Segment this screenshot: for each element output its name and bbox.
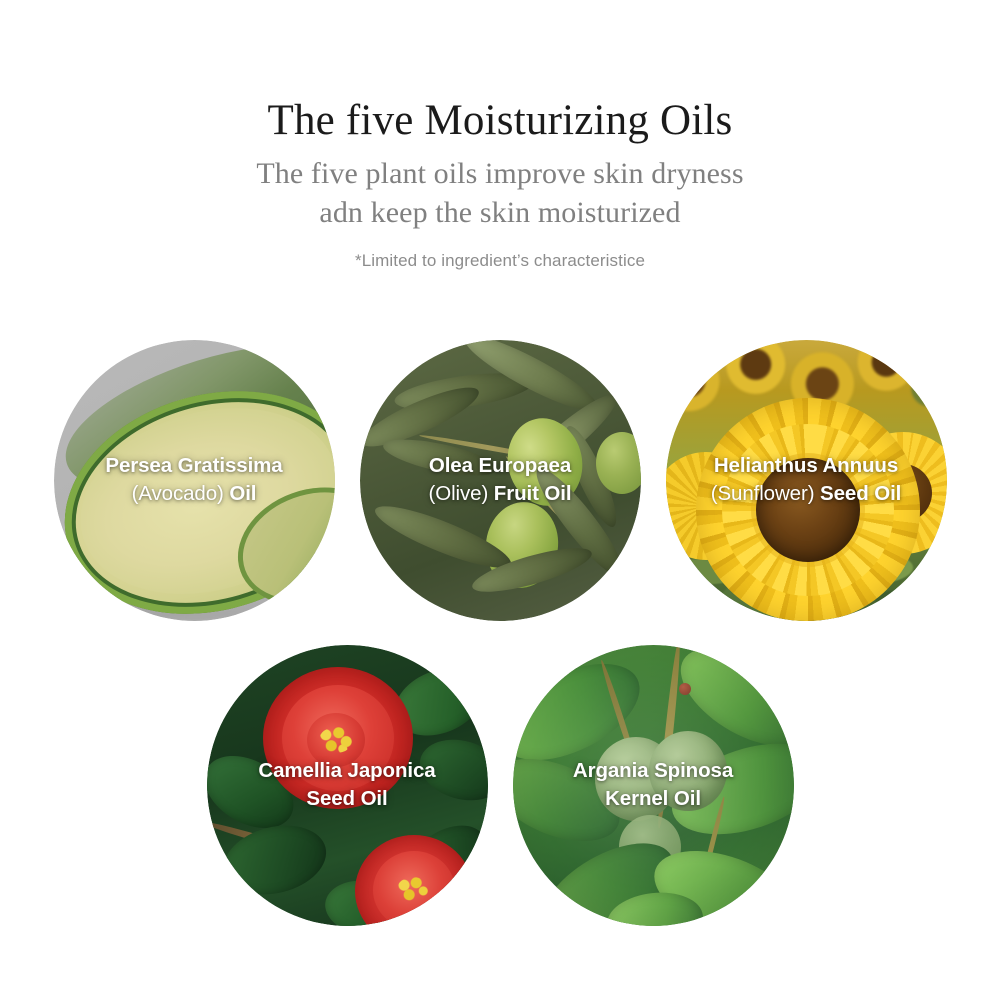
avocado-half-photo [54,340,335,621]
header: The five Moisturizing Oils The five plan… [0,0,1000,271]
olive-branch-photo [360,340,641,621]
oil-row-bottom: Camellia Japonica Seed Oil [0,645,1000,926]
oil-card-olive[interactable]: Olea Europaea (Olive) Fruit Oil [360,340,641,621]
oil-card-sunflower[interactable]: Helianthus Annuus (Sunflower) Seed Oil [666,340,947,621]
page-title: The five Moisturizing Oils [0,0,1000,144]
oil-card-argan[interactable]: Argania Spinosa Kernel Oil [513,645,794,926]
infographic-page: The five Moisturizing Oils The five plan… [0,0,1000,1000]
sunflower-field-photo [666,340,947,621]
oil-card-avocado[interactable]: Persea Gratissima (Avocado) Oil [54,340,335,621]
oil-card-camellia[interactable]: Camellia Japonica Seed Oil [207,645,488,926]
subtitle-line-2: adn keep the skin moisturized [0,194,1000,232]
page-subtitle: The five plant oils improve skin dryness… [0,144,1000,232]
camellia-flower-photo [207,645,488,926]
subtitle-line-1: The five plant oils improve skin dryness [0,155,1000,193]
oil-row-top: Persea Gratissima (Avocado) Oil [0,340,1000,621]
footnote-disclaimer: *Limited to ingredient’s characteristice [0,232,1000,271]
argan-fruit-photo [513,645,794,926]
